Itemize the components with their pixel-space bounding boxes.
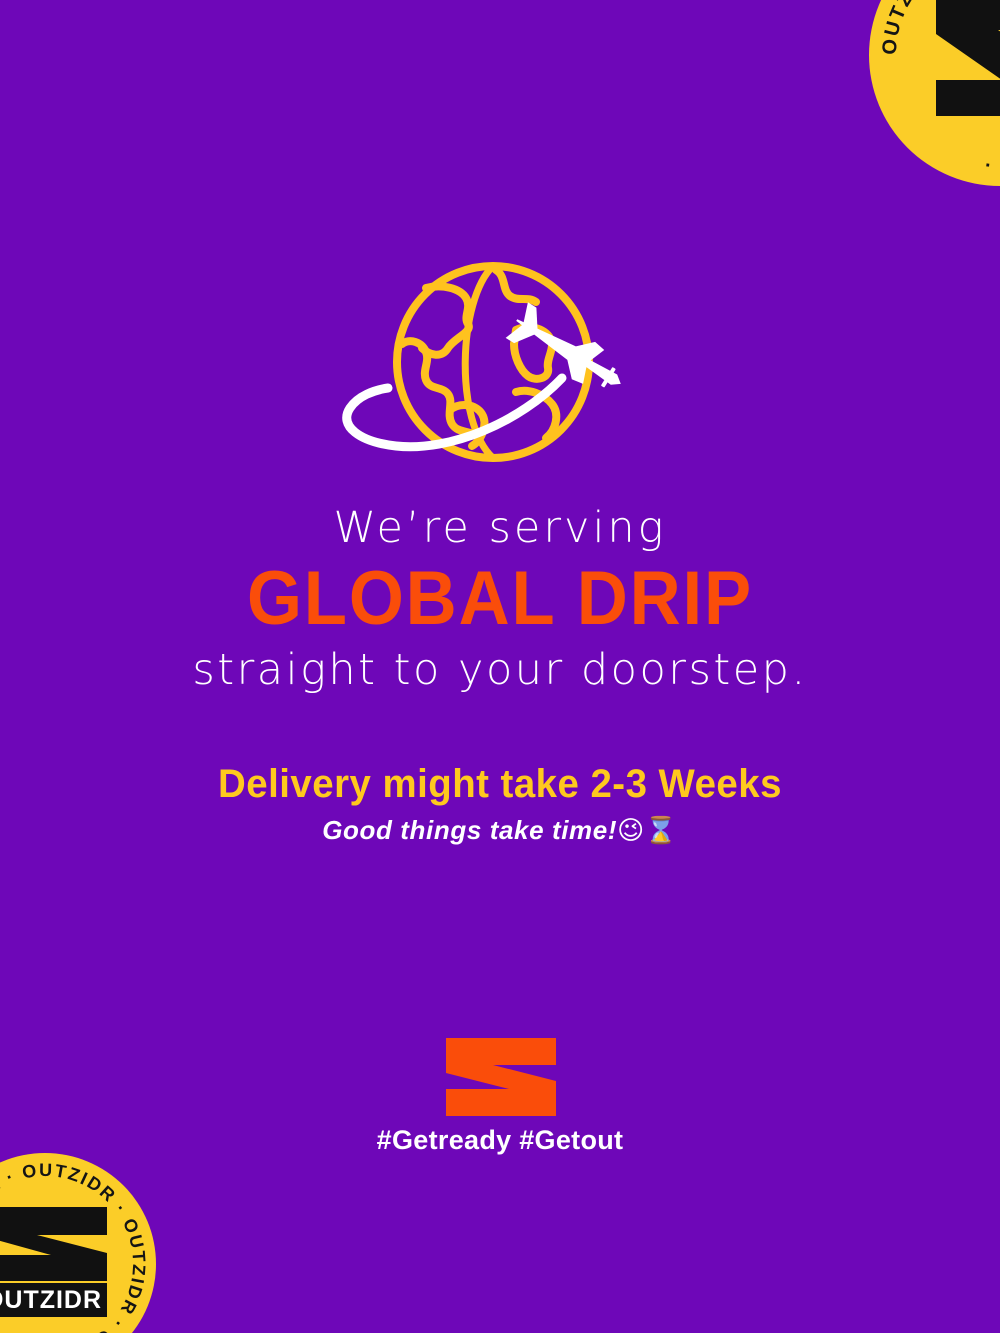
wink-emoji-icon: 😉 <box>617 816 645 846</box>
headline-eyebrow: We’re serving <box>0 505 1000 552</box>
badge-top-right: OUTZIDR · OUTZIDR · OUTZIDR · OUTZIDR · <box>869 0 1000 186</box>
headline-main: GLOBAL DRIP <box>35 556 965 641</box>
badge-bottom-left-wordmark: OUTZIDR <box>0 1286 102 1314</box>
badge-bottom-left: OUTZIDR · OUTZIDR · OUTZIDR · OUTZIDR · … <box>0 1153 156 1333</box>
reassurance-text: Good things take time! <box>322 815 617 845</box>
globe-with-airplane-icon <box>330 252 670 477</box>
delivery-notice: Delivery might take 2-3 Weeks <box>20 762 980 807</box>
poster-canvas: OUTZIDR · OUTZIDR · OUTZIDR · OUTZIDR · <box>0 0 1000 1333</box>
headline-subline: straight to your doorstep. <box>0 647 1000 694</box>
headline-block: We’re serving GLOBAL DRIP straight to yo… <box>0 505 1000 695</box>
badge-top-right-logo <box>932 0 1000 120</box>
hashtag-line: #Getready #Getout <box>0 1125 1000 1156</box>
hourglass-emoji-icon: ⌛ <box>645 816 678 846</box>
reassurance-line: Good things take time!😉⌛ <box>0 815 1000 846</box>
badge-bottom-left-logo: OUTZIDR <box>0 1205 115 1323</box>
brand-z-logo <box>446 1038 556 1116</box>
